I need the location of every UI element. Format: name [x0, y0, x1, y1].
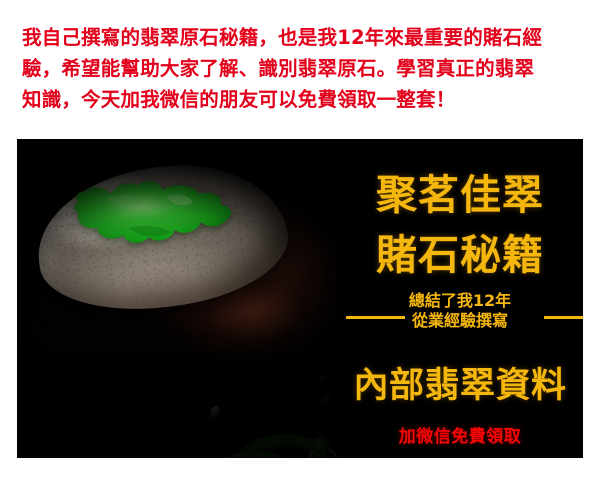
brand-title-line-1: 聚茗佳翠	[337, 161, 583, 221]
headline-line-2: 驗，希望能幫助大家了解、識別翡翠原石。學習真正的翡翠	[22, 53, 582, 84]
promo-text-column: 聚茗佳翠 賭石秘籍 總結了我12年 從業經驗撰寫 內部翡翠資料 加微信免費領取	[337, 139, 583, 458]
green-jade-vein	[71, 172, 239, 250]
headline-line-3: 知識，今天加我微信的朋友可以免費領取一整套！	[22, 84, 582, 115]
brand-title-line-2: 賭石秘籍	[337, 221, 583, 281]
promo-subtitle-line-1: 總結了我12年	[337, 291, 583, 311]
jade-ring	[305, 436, 335, 458]
jade-product-photo	[17, 139, 337, 458]
promo-subtitle-line-2: 從業經驗撰寫	[337, 311, 583, 331]
sand-pebble	[319, 393, 335, 408]
ring-jade-cabochon	[311, 438, 329, 453]
sand-pebble	[316, 372, 330, 384]
promo-feature-title: 內部翡翠資料	[337, 357, 583, 408]
headline-paragraph: 我自己撰寫的翡翠原石秘籍，也是我12年來最重要的賭石經 驗，希望能幫助大家了解、…	[22, 22, 582, 115]
sand-pebble	[208, 405, 222, 421]
promo-subtitle: 總結了我12年 從業經驗撰寫	[337, 291, 583, 331]
headline-line-1: 我自己撰寫的翡翠原石秘籍，也是我12年來最重要的賭石經	[22, 22, 582, 53]
promo-cta-text: 加微信免費領取	[337, 422, 583, 447]
promo-banner: 聚茗佳翠 賭石秘籍 總結了我12年 從業經驗撰寫 內部翡翠資料 加微信免費領取	[17, 139, 583, 458]
